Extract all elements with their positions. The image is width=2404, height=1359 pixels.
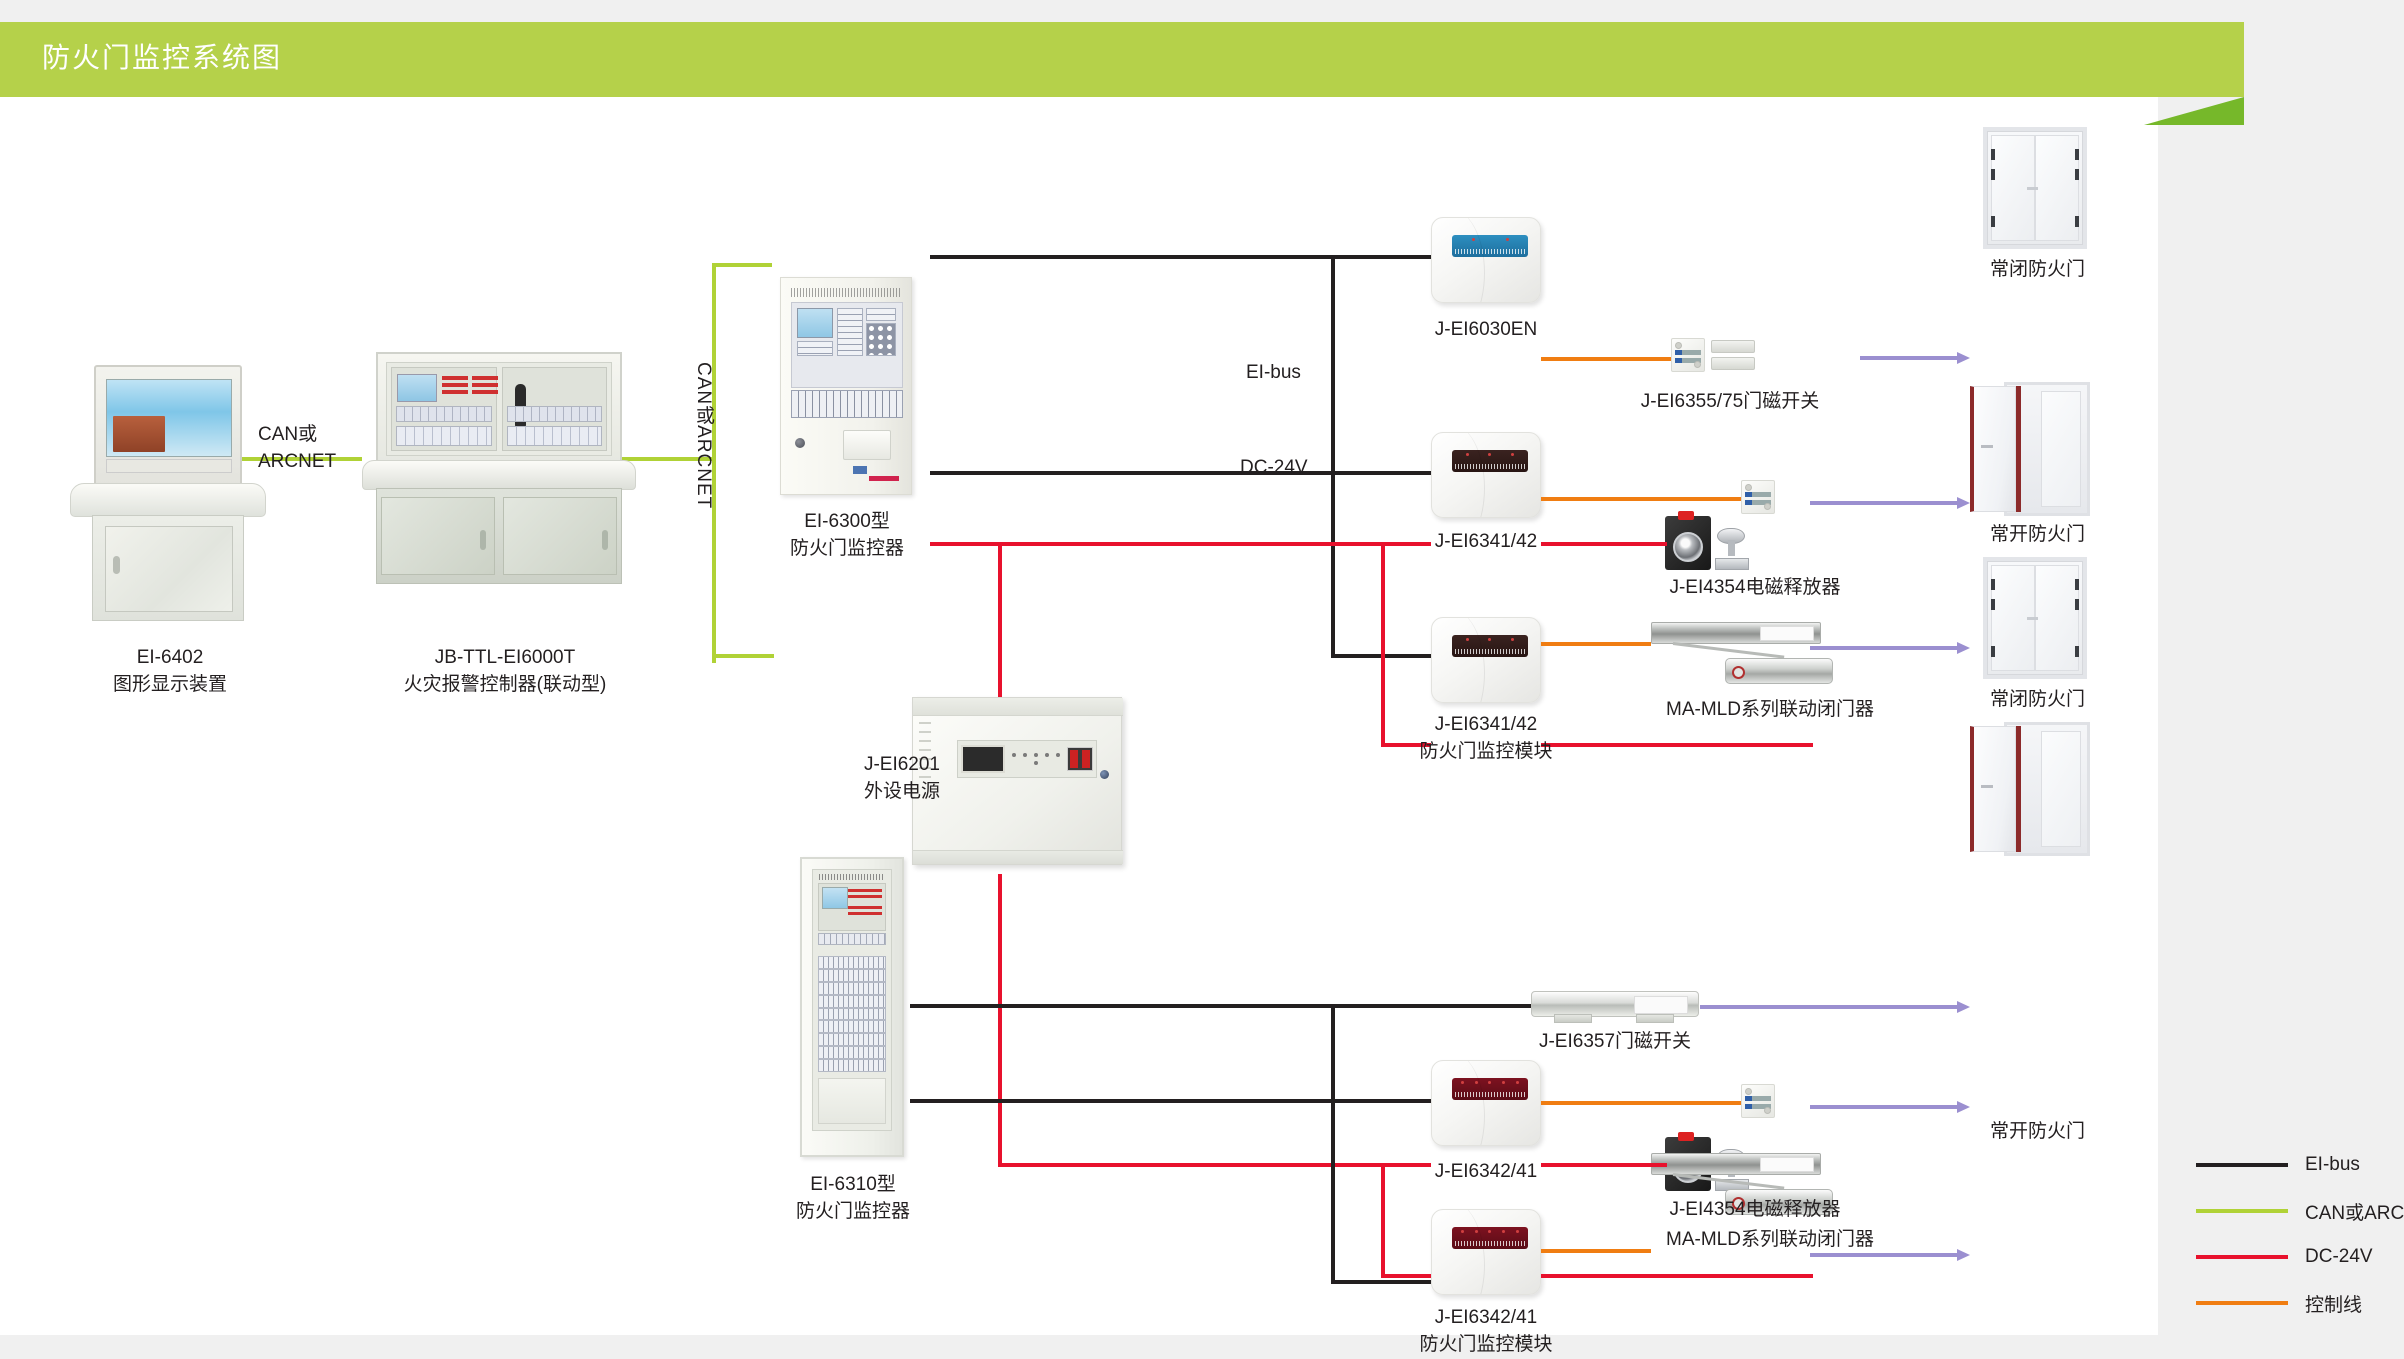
caption-door-closed-top: 常闭防火门 (1955, 257, 2120, 284)
module-label-plate (1452, 450, 1528, 472)
device-monitor-ei6300[interactable] (780, 277, 914, 497)
cabinet-6310-face (812, 869, 892, 1131)
console-handle (113, 556, 120, 574)
closer-rail-label (1760, 1157, 1814, 1172)
caption-door-open-top: 常开防火门 (1955, 522, 2120, 549)
console-cabinet (92, 515, 244, 621)
controller-desk (362, 460, 636, 490)
psu-top-lid (913, 698, 1123, 716)
door-handle-icon (1981, 785, 1993, 788)
cabinet-6310-control-head (818, 883, 886, 931)
closer-arm (1673, 642, 1785, 659)
door-jamb (2016, 726, 2021, 852)
psu-control-face (957, 740, 1097, 778)
device-door-closer-mamld-top[interactable] (1651, 622, 1841, 692)
controller-cabinet-door-left (381, 497, 495, 575)
monitor-6300-model-plate (791, 288, 901, 297)
release-armature-stem (1728, 540, 1735, 556)
caption-name: 火灾报警控制器(联动型) (404, 674, 607, 695)
wire-eibus-vertical-trunk-lower (1331, 1004, 1335, 1284)
legend-label-dc-24v: DC-24V (2305, 1246, 2373, 1268)
console-screen (106, 379, 232, 457)
module-label-plate (1452, 635, 1528, 657)
wire-label-ei-bus: EI-bus (1246, 362, 1301, 384)
module-label-text (1455, 1241, 1525, 1246)
caption-module-6030en: J-EI6030EN (1381, 317, 1591, 344)
caption-model: JB-TTL-EI6000T (435, 647, 575, 668)
release-magnet-face-icon (1673, 532, 1703, 562)
closer-slide-rail (1651, 622, 1821, 644)
legend-swatch-can-arcnet (2196, 1209, 2288, 1213)
header-banner (0, 22, 2244, 97)
caption-name: 防火门监控模块 (1419, 1334, 1552, 1355)
wire-dc24v-psu-to-lower (998, 874, 1002, 1167)
wire-eibus-to-6030en (1331, 255, 1431, 259)
release-button[interactable] (1678, 1132, 1694, 1141)
door-handle-icon (1981, 445, 1993, 448)
legend-swatch-ei-bus (2196, 1163, 2288, 1167)
wire-label-dc-24v: DC-24V (1240, 457, 1308, 479)
caption-door-closed-bottom: 常闭防火门 (1955, 687, 2120, 714)
caption-name: 图形显示装置 (113, 674, 227, 695)
wire-control-6341b-to-closer (1541, 642, 1651, 646)
module-leds (1456, 1230, 1524, 1235)
release-armature-plate (1715, 528, 1749, 570)
caption-door-open-bottom: 常开防火门 (1955, 1119, 2120, 1146)
door-switch-bar-2 (1711, 357, 1755, 370)
caption-name: 防火门监控器 (790, 538, 904, 559)
psu-lock[interactable] (1100, 770, 1109, 779)
controller-cabinet-door-right (503, 497, 617, 575)
door-leaf-right (2035, 565, 2079, 671)
controller-panel-top (376, 352, 622, 464)
legend-label-ei-bus: EI-bus (2305, 1154, 2360, 1176)
door-handle-icon (2027, 617, 2038, 620)
door-jamb (2016, 386, 2021, 512)
brand-logo-icon (853, 466, 899, 482)
controller-panel-left (391, 367, 497, 451)
caption-release-bottom: J-EI4354电磁释放器 (1625, 1197, 1885, 1224)
arrow-to-open-door-top-1 (1810, 497, 1970, 508)
module-label-text (1455, 249, 1525, 254)
caption-name: 外设电源 (864, 781, 940, 802)
cabinet-6310-terminal-rows (818, 956, 886, 1072)
caption-model: EI-6310型 (810, 1174, 896, 1195)
legend-swatch-dc-24v (2196, 1255, 2288, 1259)
arrow-to-closed-door-bottom-1 (1700, 1001, 1970, 1012)
wire-eibus-to-6341-a (930, 471, 1431, 475)
psu-display (961, 745, 1005, 773)
caption-module-6341-a: J-EI6341/42 (1381, 529, 1591, 556)
wire-eibus-top-feed (930, 255, 1335, 259)
monitor-6300-printer (843, 430, 891, 460)
caption-module-6342-a: J-EI6342/41 (1381, 1159, 1591, 1186)
wire-eibus-lower-to-6357 (910, 1004, 1335, 1008)
wire-eibus-to-door-switch-6357 (1331, 1004, 1531, 1008)
cabinet-6310-enclosure (800, 857, 904, 1157)
device-fire-door-closed-top[interactable] (1983, 127, 2087, 249)
arrow-to-closed-door-bottom-2 (1810, 1101, 1970, 1112)
monitor-6300-enclosure (780, 277, 912, 495)
door-switch-plate-left (1671, 338, 1705, 372)
caption-release-top: J-EI4354电磁释放器 (1625, 575, 1885, 602)
device-fire-alarm-controller-jbttl[interactable] (362, 352, 638, 597)
monitor-6300-indicator-grid (866, 323, 896, 356)
caption-name: 防火门监控器 (796, 1201, 910, 1222)
device-monitor-ei6310[interactable] (800, 857, 906, 1159)
wire-eibus-to-6342-b (1331, 1280, 1431, 1284)
caption-module-6341-b: J-EI6341/42防火门监控模块 (1371, 712, 1601, 766)
caption-model: J-EI6201 (864, 754, 940, 775)
controller-lcd (397, 374, 437, 402)
door-leaf-fixed (2041, 391, 2081, 507)
monitor-6300-buttons-b[interactable] (866, 308, 896, 321)
caption-name: 防火门监控模块 (1419, 741, 1552, 762)
release-button[interactable] (1678, 511, 1694, 520)
caption-model: EI-6300型 (804, 511, 890, 532)
module-leds (1456, 1081, 1524, 1086)
cabinet-6310-keypad[interactable] (818, 933, 886, 945)
caption-module-6342-b: J-EI6342/41防火门监控模块 (1371, 1305, 1601, 1359)
wire-dc24v-lower-feed (998, 1163, 1386, 1167)
monitor-6300-lock[interactable] (795, 438, 805, 448)
wire-dc24v-down-to-psu (998, 542, 1002, 722)
device-power-supply-jei6201[interactable] (912, 697, 1124, 867)
device-door-switch-jei6357[interactable] (1531, 991, 1699, 1017)
diagram-canvas: CAN或ARCNET CAN或ARCNET EI-bus DC-24V (0, 97, 2158, 1335)
closer-rail-label (1760, 626, 1814, 641)
wire-eibus-vertical-trunk-upper (1331, 255, 1335, 658)
controller-keys-right-upper[interactable] (507, 406, 603, 422)
legend-label-can-arcnet: CAN或ARCNET (2305, 1198, 2404, 1225)
controller-panel-face (386, 362, 612, 456)
psu-breaker-switches[interactable] (1067, 747, 1093, 771)
door-switch-6357-bracket-right (1636, 1014, 1674, 1023)
console-screen-controls (106, 459, 232, 473)
controller-keys-upper[interactable] (396, 406, 492, 422)
psu-enclosure (912, 697, 1122, 865)
door-switch-bar-1 (1711, 340, 1755, 353)
monitor-6300-buttons-c[interactable] (797, 341, 833, 356)
legend-item-ei-bus: EI-bus (2196, 1142, 2404, 1188)
console-cabinet-door (105, 526, 233, 612)
device-fire-door-open-bottom[interactable] (1970, 722, 2090, 856)
door-switch-plate-left (1741, 480, 1775, 514)
console-desk (70, 483, 266, 517)
wire-eibus-to-6342-a (910, 1099, 1431, 1103)
arrow-to-closed-door-top (1860, 352, 1970, 363)
device-door-switch-jei6355[interactable] (1671, 338, 1755, 372)
caption-closer-top: MA-MLD系列联动闭门器 (1620, 697, 1920, 724)
cabinet-6310-model-plate (819, 874, 885, 880)
caption-door-switch-6355: J-EI6355/75门磁开关 (1580, 389, 1880, 416)
console-monitor (94, 365, 242, 487)
device-fire-door-open-top[interactable] (1970, 382, 2090, 516)
door-leaf-swing (1970, 386, 2016, 512)
caption-monitor-6310: EI-6310型防火门监控器 (778, 1172, 928, 1226)
monitor-6300-buttons-a[interactable] (837, 308, 863, 356)
caption-model: J-EI6342/41 (1435, 1307, 1537, 1328)
legend-item-control-line: 控制线 (2196, 1280, 2404, 1326)
module-label-plate (1452, 1227, 1528, 1249)
door-leaf-right (2035, 135, 2079, 241)
caption-power-supply: J-EI6201外设电源 (800, 752, 940, 806)
wire-control-6342a-to-switch (1541, 1101, 1741, 1105)
monitor-6300-control-face (791, 302, 903, 388)
door-switch-6357-bracket-left (1554, 1014, 1592, 1023)
wire-label-can-arcnet-left: CAN或ARCNET (258, 422, 336, 475)
monitor-6300-lcd (797, 308, 833, 338)
closer-slide-rail (1651, 1153, 1821, 1175)
cabinet-6310-lcd (822, 887, 848, 909)
cabinet-6310-lower-door (818, 1078, 886, 1124)
legend-label-control-line: 控制线 (2305, 1290, 2362, 1317)
door-switch-bars (1711, 338, 1755, 372)
wire-control-6030en-to-switch (1541, 357, 1671, 361)
release-magnet-body (1665, 516, 1711, 570)
caption-model: EI-6402 (137, 647, 204, 668)
device-module-jei6341-b[interactable] (1431, 617, 1541, 703)
wire-can-to-6300 (712, 263, 772, 267)
page-title: 防火门监控系统图 (42, 36, 282, 76)
device-graphic-display-ei6402[interactable] (70, 365, 270, 625)
module-leds (1456, 638, 1524, 643)
device-module-jei6342-a[interactable] (1431, 1060, 1541, 1146)
monitor-6300-terminal-strip (791, 390, 903, 418)
release-armature-base (1715, 558, 1749, 570)
wire-label-can-arcnet-vertical: CAN或ARCNET (690, 362, 717, 509)
module-label-text (1455, 1092, 1525, 1097)
caption-model: J-EI6341/42 (1435, 714, 1537, 735)
right-side-panel (2158, 0, 2404, 1335)
legend: EI-bus CAN或ARCNET DC-24V 控制线 (2196, 1142, 2404, 1326)
controller-panel-right (502, 367, 608, 451)
caption-monitor-6300: EI-6300型防火门监控器 (772, 509, 922, 563)
device-fire-door-closed-bottom[interactable] (1983, 557, 2087, 679)
closer-body (1725, 658, 1833, 684)
psu-bottom-edge (913, 850, 1123, 864)
door-leaf-swing (1970, 726, 2016, 852)
caption-graphic-display: EI-6402图形显示装置 (60, 645, 280, 699)
door-switch-plate-left (1741, 1084, 1775, 1118)
arrow-to-open-door-top-2 (1810, 642, 1970, 653)
wire-can-to-6310 (712, 654, 774, 658)
module-label-text (1455, 649, 1525, 654)
module-leds (1456, 238, 1524, 243)
door-handle-icon (2027, 187, 2038, 190)
module-label-plate (1452, 1078, 1528, 1100)
legend-item-dc-24v: DC-24V (2196, 1234, 2404, 1280)
controller-keys-lower[interactable] (396, 426, 492, 446)
device-door-switch-jei6355-c[interactable] (1741, 1084, 1775, 1118)
controller-keys-right-lower[interactable] (507, 426, 603, 446)
psu-indicator-leds (1005, 748, 1067, 770)
device-module-jei6030en[interactable] (1431, 217, 1541, 303)
device-module-jei6342-b[interactable] (1431, 1209, 1541, 1295)
caption-door-switch-6357: J-EI6357门磁开关 (1490, 1029, 1740, 1056)
module-label-text (1455, 464, 1525, 469)
module-label-plate (1452, 235, 1528, 257)
wire-control-6341a-to-switch (1541, 497, 1741, 501)
wire-dc24v-to-closer-bottom (1541, 1274, 1813, 1278)
controller-cabinet (376, 488, 622, 584)
caption-closer-bottom: MA-MLD系列联动闭门器 (1620, 1227, 1920, 1254)
module-leds (1456, 453, 1524, 458)
door-leaf-fixed (2041, 731, 2081, 847)
door-switch-6357-label (1634, 996, 1688, 1014)
wire-dc24v-to-6342-b (1381, 1274, 1431, 1278)
closer-arm (1673, 1173, 1785, 1190)
device-module-jei6341-a[interactable] (1431, 432, 1541, 518)
legend-item-can-arcnet: CAN或ARCNET (2196, 1188, 2404, 1234)
device-door-switch-jei6355-b[interactable] (1741, 480, 1775, 514)
device-release-jei4354-top[interactable] (1665, 510, 1755, 576)
caption-fire-alarm-controller: JB-TTL-EI6000T火灾报警控制器(联动型) (370, 645, 640, 699)
legend-swatch-control-line (2196, 1301, 2288, 1305)
